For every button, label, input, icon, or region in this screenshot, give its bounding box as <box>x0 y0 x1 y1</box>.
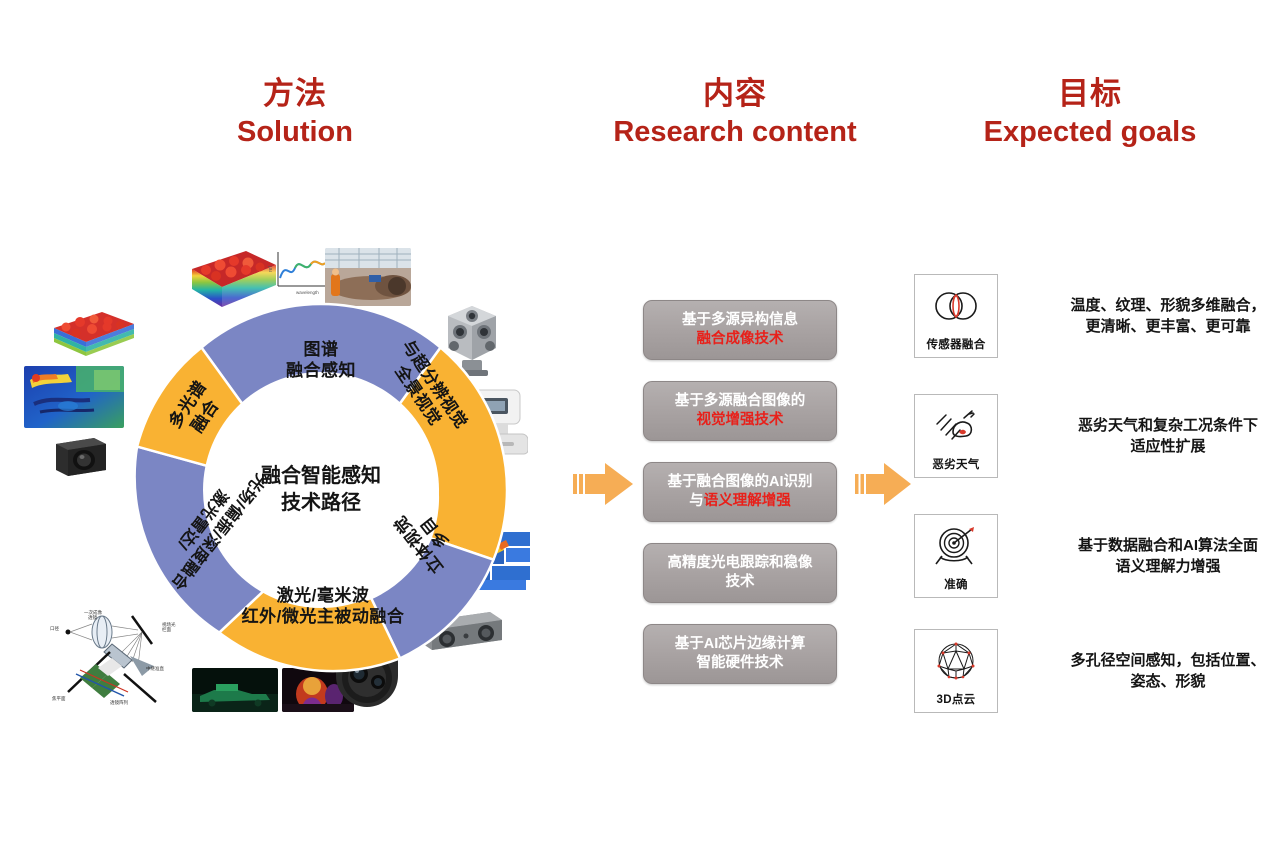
donut-label-bottom-line1: 激光/毫米波 <box>277 586 370 605</box>
rain-weather-icon <box>915 395 997 456</box>
column-header-research: 内容 Research content <box>575 76 895 149</box>
goal-card-caption-1: 传感器融合 <box>927 336 986 352</box>
goal-text-3-line1: 基于数据融合和AI算法全面 <box>1078 537 1258 554</box>
goal-card-caption-2: 恶劣天气 <box>932 456 979 472</box>
point-cloud-icon <box>915 630 997 691</box>
goal-text-4-line2: 姿态、形貌 <box>1130 673 1205 690</box>
column-header-solution-cn: 方法 <box>150 76 440 113</box>
goal-text-point-cloud: 多孔径空间感知，包括位置、 姿态、形貌 <box>1018 650 1268 693</box>
thermal-infrared-image-thumb <box>24 366 124 428</box>
goal-row-point-cloud: 3D点云 多孔径空间感知，包括位置、 姿态、形貌 <box>914 629 1268 713</box>
arrow-content-to-goals <box>855 459 913 509</box>
process-box-1-highlight: 融合成像技术 <box>697 331 784 347</box>
goal-card-point-cloud[interactable]: 3D点云 <box>914 629 998 713</box>
camera-module-thumb <box>50 434 110 478</box>
diagram-canvas: 方法 Solution 内容 Research content 目标 Expec… <box>0 0 1268 866</box>
goal-text-1-line2: 更清晰、更丰富、更可靠 <box>1085 318 1250 335</box>
process-box-2-highlight: 视觉增强技术 <box>697 412 784 428</box>
goal-text-2-line2: 适应性扩展 <box>1130 438 1205 455</box>
donut-label-bottom: 激光/毫米波 红外/微光主被动融合 <box>209 586 437 627</box>
goal-card-bad-weather[interactable]: 恶劣天气 <box>914 394 998 478</box>
donut-center-line1: 融合智能感知 <box>211 463 431 490</box>
donut-center-line2: 技术路径 <box>211 490 431 517</box>
process-box-4-line1: 高精度光电跟踪和稳像 <box>668 555 813 571</box>
donut-label-top-line2: 融合感知 <box>286 361 356 380</box>
goal-text-accuracy: 基于数据融合和AI算法全面 语义理解力增强 <box>1018 535 1268 578</box>
goal-card-sensor-fusion[interactable]: 传感器融合 <box>914 274 998 358</box>
goal-card-caption-3: 准确 <box>944 576 968 592</box>
donut-label-top-line1: 图谱 <box>304 340 339 359</box>
process-box-3-line1: 基于融合图像的AI识别 <box>668 474 813 490</box>
goal-card-accuracy[interactable]: 准确 <box>914 514 998 598</box>
svg-text:透镜阵列: 透镜阵列 <box>110 699 128 706</box>
process-box-tracking-stabilization[interactable]: 高精度光电跟踪和稳像 技术 <box>643 543 837 603</box>
process-box-4-line2: 技术 <box>726 574 755 590</box>
column-header-solution-en: Solution <box>150 115 440 149</box>
goal-row-bad-weather: 恶劣天气 恶劣天气和复杂工况条件下 适应性扩展 <box>914 394 1268 478</box>
column-header-research-en: Research content <box>575 115 895 149</box>
goal-row-sensor-fusion: 传感器融合 温度、纹理、形貌多维融合， 更清晰、更丰富、更可靠 <box>914 274 1268 358</box>
svg-text:口径: 口径 <box>50 625 59 632</box>
goal-text-1-line1: 温度、纹理、形貌多维融合， <box>1070 297 1265 314</box>
svg-text:ref: ref <box>268 266 274 272</box>
spectral-curve-plot-thumb: ref wavelength <box>268 246 330 298</box>
process-box-visual-enhancement[interactable]: 基于多源融合图像的 视觉增强技术 <box>643 381 837 441</box>
process-box-fusion-imaging[interactable]: 基于多源异构信息 融合成像技术 <box>643 300 837 360</box>
venn-circles-icon <box>915 275 997 336</box>
column-header-goals-cn: 目标 <box>935 76 1245 113</box>
solution-donut-chart: 图谱 融合感知 与超分辨视觉 全景视觉 立体视觉 多目 激光/毫米波 红外/微光… <box>123 292 519 688</box>
goal-text-3-line2: 语义理解力增强 <box>1115 558 1220 575</box>
goal-text-4-line1: 多孔径空间感知，包括位置、 <box>1070 652 1265 669</box>
process-box-3-line2: 与 <box>689 493 704 509</box>
column-header-goals: 目标 Expected goals <box>935 76 1245 149</box>
process-box-ai-recognition[interactable]: 基于融合图像的AI识别 与语义理解增强 <box>643 462 837 522</box>
process-box-2-line1: 基于多源融合图像的 <box>675 393 806 409</box>
donut-label-bottom-line2: 红外/微光主被动融合 <box>242 607 405 626</box>
svg-text:焦平面: 焦平面 <box>52 695 66 702</box>
donut-center-label: 融合智能感知 技术路径 <box>211 463 431 517</box>
target-dart-icon <box>915 515 997 576</box>
goal-text-bad-weather: 恶劣天气和复杂工况条件下 适应性扩展 <box>1018 415 1268 458</box>
process-box-1-line1: 基于多源异构信息 <box>682 312 798 328</box>
arrow-solution-to-content <box>573 459 635 509</box>
column-header-goals-en: Expected goals <box>935 115 1245 149</box>
process-box-edge-computing[interactable]: 基于AI芯片边缘计算 智能硬件技术 <box>643 624 837 684</box>
process-box-5-line2: 智能硬件技术 <box>697 655 784 671</box>
process-box-5-line1: 基于AI芯片边缘计算 <box>675 636 806 652</box>
process-box-3-highlight: 语义理解增强 <box>704 493 791 509</box>
goal-text-2-line1: 恶劣天气和复杂工况条件下 <box>1078 417 1258 434</box>
goal-text-sensor-fusion: 温度、纹理、形貌多维融合， 更清晰、更丰富、更可靠 <box>1018 295 1268 338</box>
goal-row-accuracy: 准确 基于数据融合和AI算法全面 语义理解力增强 <box>914 514 1268 598</box>
goal-card-caption-4: 3D点云 <box>937 691 976 707</box>
column-header-research-cn: 内容 <box>575 76 895 113</box>
column-header-solution: 方法 Solution <box>150 76 440 149</box>
svg-text:透镜: 透镜 <box>88 614 97 621</box>
